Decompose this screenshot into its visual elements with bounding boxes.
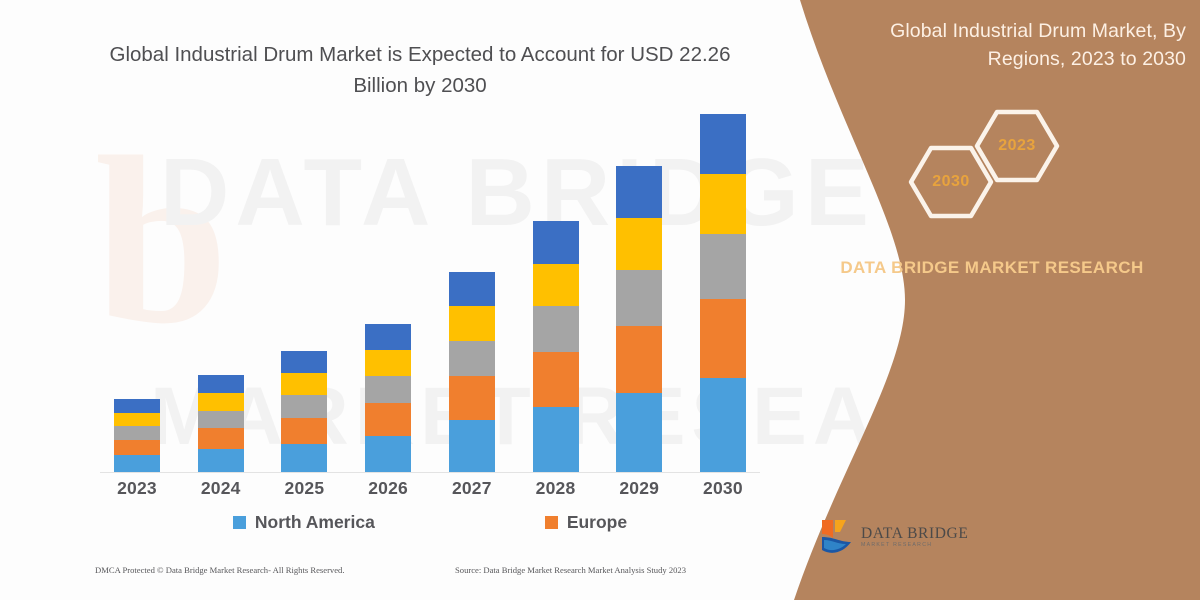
legend-swatch-icon — [233, 516, 246, 529]
bar-segment — [281, 351, 327, 373]
x-axis-label-2023: 2023 — [114, 478, 160, 499]
bar-segment — [533, 264, 579, 307]
legend-label: North America — [255, 512, 375, 533]
bar-segment — [616, 166, 662, 218]
bar-segment — [700, 114, 746, 173]
legend-swatch-icon — [545, 516, 558, 529]
bar-segment — [281, 395, 327, 418]
x-axis-label-2027: 2027 — [449, 478, 495, 499]
bar-segment — [198, 393, 244, 411]
bar-segment — [449, 341, 495, 376]
hexagon-2023: 2023 — [974, 108, 1060, 184]
right-brand-panel: Global Industrial Drum Market, By Region… — [780, 0, 1200, 600]
bar-segment — [700, 234, 746, 299]
data-bridge-logo: DATA BRIDGE MARKET RESEARCH — [820, 518, 968, 556]
bar-segment — [198, 411, 244, 429]
bar-column-2030 — [700, 114, 746, 472]
hexagon-group: 2030 2023 — [900, 108, 1100, 228]
bar-segment — [700, 174, 746, 234]
x-axis-label-2026: 2026 — [365, 478, 411, 499]
hexagon-2023-label: 2023 — [974, 108, 1060, 184]
page-title: Global Industrial Drum Market is Expecte… — [100, 40, 740, 102]
bar-segment — [114, 413, 160, 427]
bar-segment — [114, 440, 160, 456]
footer-source-text: Source: Data Bridge Market Research Mark… — [455, 565, 686, 575]
bar-segment — [198, 375, 244, 393]
bar-column-2028 — [533, 221, 579, 472]
bar-segment — [533, 407, 579, 472]
bar-segment — [616, 270, 662, 326]
legend-item: Europe — [545, 512, 627, 533]
bar-column-2027 — [449, 272, 495, 472]
bar-segment — [281, 444, 327, 472]
legend-item: North America — [233, 512, 375, 533]
footer-dmca-text: DMCA Protected © Data Bridge Market Rese… — [95, 565, 345, 575]
data-bridge-logo-text: DATA BRIDGE MARKET RESEARCH — [861, 526, 968, 549]
panel-brand-text: DATA BRIDGE MARKET RESEARCH — [800, 256, 1184, 281]
x-axis-label-2028: 2028 — [533, 478, 579, 499]
bar-segment — [365, 436, 411, 472]
x-axis-labels: 20232024202520262027202820292030 — [100, 478, 760, 499]
panel-title: Global Industrial Drum Market, By Region… — [810, 18, 1186, 73]
bar-segment — [114, 426, 160, 440]
bar-segment — [365, 403, 411, 435]
bar-segment — [198, 449, 244, 472]
panel-background-shape — [780, 0, 1200, 600]
bar-segment — [533, 221, 579, 264]
bar-segment — [533, 352, 579, 407]
x-axis-line — [100, 472, 760, 473]
bar-segment — [700, 299, 746, 378]
x-axis-label-2030: 2030 — [700, 478, 746, 499]
x-axis-label-2029: 2029 — [616, 478, 662, 499]
bar-series-container — [100, 128, 760, 472]
x-axis-label-2025: 2025 — [281, 478, 327, 499]
bar-segment — [281, 418, 327, 444]
bar-segment — [365, 376, 411, 403]
bar-segment — [616, 218, 662, 270]
bar-segment — [114, 399, 160, 413]
bar-segment — [700, 378, 746, 472]
data-bridge-logo-mark — [820, 518, 854, 556]
x-axis-label-2024: 2024 — [198, 478, 244, 499]
legend-label: Europe — [567, 512, 627, 533]
logo-text-main: DATA BRIDGE — [861, 526, 968, 542]
logo-mark-shape — [820, 518, 854, 556]
bar-segment — [365, 350, 411, 376]
bar-segment — [616, 393, 662, 472]
bar-segment — [449, 420, 495, 472]
bar-segment — [198, 428, 244, 449]
logo-text-sub: MARKET RESEARCH — [861, 543, 968, 548]
bar-segment — [449, 272, 495, 306]
bar-chart-plot — [100, 128, 760, 473]
bar-column-2024 — [198, 375, 244, 472]
bar-segment — [365, 324, 411, 350]
bar-segment — [114, 455, 160, 472]
bar-segment — [281, 373, 327, 395]
bar-segment — [533, 306, 579, 352]
bar-segment — [449, 306, 495, 340]
bar-column-2025 — [281, 351, 327, 472]
bar-segment — [449, 376, 495, 420]
chart-legend: North AmericaEurope — [100, 512, 760, 533]
bar-column-2029 — [616, 166, 662, 472]
infographic-canvas: b DATA BRIDGE MARKET RESEARCH Global Ind… — [0, 0, 1200, 600]
bar-column-2026 — [365, 324, 411, 472]
bar-column-2023 — [114, 399, 160, 472]
bar-segment — [616, 326, 662, 393]
